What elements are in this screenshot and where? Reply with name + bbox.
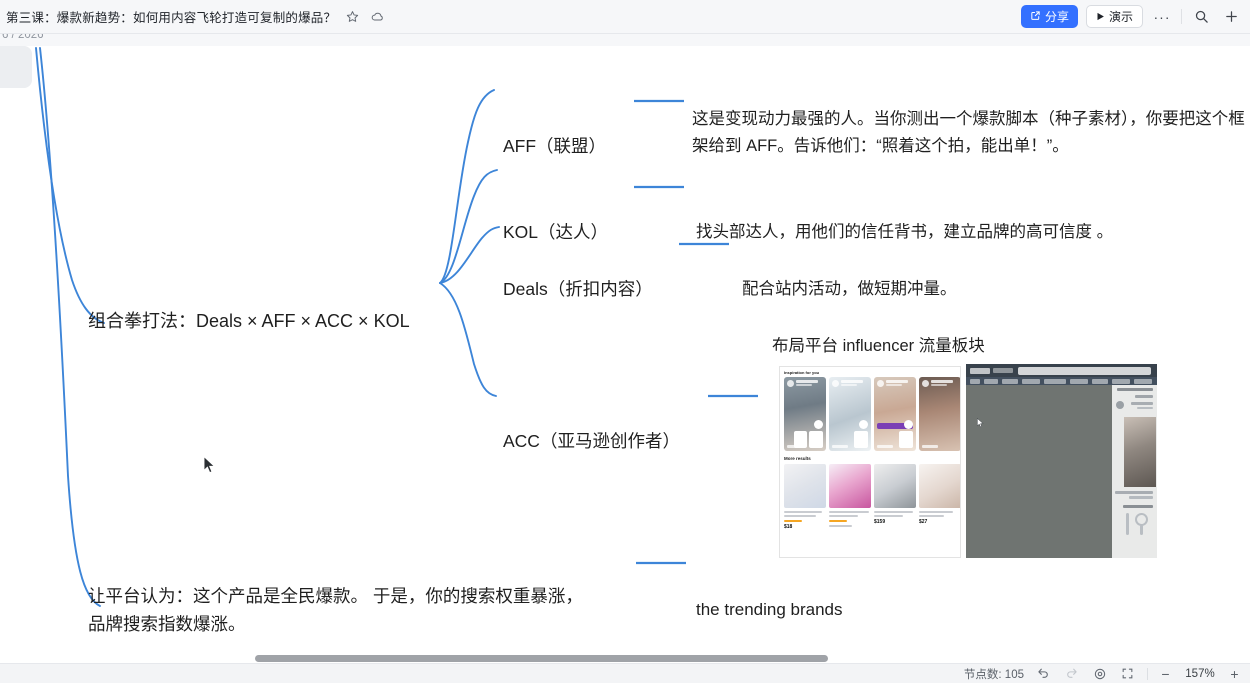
branch-label-kol[interactable]: KOL（达人） bbox=[503, 219, 608, 246]
product-utensil-icon bbox=[1126, 513, 1129, 535]
shot-a-video-row bbox=[780, 377, 960, 451]
avatar bbox=[787, 380, 794, 387]
avatar bbox=[922, 380, 929, 387]
document-title[interactable]: 第三课：爆款新趋势：如何用内容飞轮打造可复制的爆品？ bbox=[6, 7, 336, 26]
delivery-location bbox=[993, 368, 1013, 373]
video-card bbox=[874, 377, 916, 451]
action-bar bbox=[832, 445, 848, 448]
product-image bbox=[874, 464, 916, 508]
present-button-label: 演示 bbox=[1109, 8, 1133, 25]
product-price: $159 bbox=[874, 519, 916, 525]
zoom-out-button[interactable]: − bbox=[1159, 667, 1172, 681]
avatar bbox=[877, 380, 884, 387]
play-triangle-icon bbox=[1096, 10, 1105, 24]
subtitle-bar bbox=[931, 384, 947, 386]
plus-icon[interactable] bbox=[1220, 6, 1242, 28]
zoom-in-button[interactable]: + bbox=[1228, 667, 1241, 681]
nav-tab bbox=[1070, 379, 1088, 384]
post-caption-line bbox=[1129, 496, 1153, 499]
product-card bbox=[829, 464, 871, 531]
title-bar: 第三课：爆款新趋势：如何用内容飞轮打造可复制的爆品？ bbox=[0, 0, 1250, 34]
creator-post-image bbox=[1124, 417, 1156, 487]
product-price: $27 bbox=[919, 519, 961, 525]
branch-label-aff[interactable]: AFF（联盟） bbox=[503, 133, 606, 160]
product-price: $18 bbox=[784, 524, 826, 530]
nav-tab bbox=[1092, 379, 1108, 384]
nav-tab bbox=[970, 379, 980, 384]
action-bar bbox=[922, 445, 938, 448]
post-caption-line bbox=[1115, 491, 1153, 494]
product-title-line bbox=[784, 515, 816, 517]
product-title-line bbox=[829, 511, 869, 513]
branch-detail-kol[interactable]: 找头部达人，用他们的信任背书，建立品牌的高可信度 。 bbox=[696, 220, 1113, 246]
node-count-label: 节点数: 105 bbox=[964, 666, 1024, 682]
video-card bbox=[784, 377, 826, 451]
product-title-line bbox=[919, 515, 944, 517]
video-card bbox=[919, 377, 961, 451]
nav-tab bbox=[1112, 379, 1130, 384]
star-outline-icon[interactable] bbox=[343, 8, 361, 26]
statusbar-divider bbox=[1147, 668, 1148, 680]
share-button-label: 分享 bbox=[1045, 8, 1069, 25]
expand-corners-icon[interactable] bbox=[1119, 665, 1136, 682]
redo-arrow-icon[interactable] bbox=[1063, 665, 1080, 682]
product-image bbox=[784, 464, 826, 508]
product-card: $159 bbox=[874, 464, 916, 531]
nav-tab bbox=[1002, 379, 1018, 384]
amazon-creator-page-screenshot[interactable] bbox=[966, 364, 1157, 558]
left-floating-panel[interactable] bbox=[0, 46, 32, 88]
amazon-logo bbox=[970, 368, 990, 374]
bottom-node[interactable]: 让平台认为：这个产品是全民爆款。 于是，你的搜索权重暴涨， 品牌搜索指数爆涨。 bbox=[88, 582, 583, 639]
app-window: 第三课：爆款新趋势：如何用内容飞轮打造可复制的爆品？ bbox=[0, 0, 1250, 683]
badge bbox=[859, 420, 868, 429]
zoom-level-label[interactable]: 157% bbox=[1183, 668, 1217, 680]
product-image bbox=[919, 464, 961, 508]
rating-stars bbox=[784, 520, 802, 523]
product-thumb bbox=[809, 431, 823, 448]
badge bbox=[814, 420, 823, 429]
video-card bbox=[829, 377, 871, 451]
site-search-input bbox=[1018, 367, 1151, 375]
product-image bbox=[829, 464, 871, 508]
embedded-cursor-icon bbox=[976, 418, 987, 428]
rating-stars bbox=[829, 520, 847, 523]
branch-detail-aff[interactable]: 这是变现动力最强的人。当你测出一个爆款脚本（种子素材），你要把这个框架给到 AF… bbox=[692, 106, 1248, 159]
shot-a-product-grid: $18 $159 bbox=[780, 464, 960, 531]
panel-section-heading bbox=[1123, 505, 1153, 508]
fit-to-screen-icon[interactable] bbox=[1091, 665, 1108, 682]
title-bar-left: 第三课：爆款新趋势：如何用内容飞轮打造可复制的爆品？ bbox=[0, 7, 386, 26]
search-icon[interactable] bbox=[1190, 6, 1212, 28]
product-handle-icon bbox=[1140, 525, 1143, 535]
product-thumb bbox=[899, 431, 913, 448]
creator-avatar bbox=[1116, 401, 1124, 409]
amazon-inspire-feed-screenshot[interactable]: Inspiration for you bbox=[779, 366, 961, 558]
nav-tab bbox=[1044, 379, 1066, 384]
branch-detail-deals[interactable]: 配合站内活动，做短期冲量。 bbox=[742, 277, 957, 303]
undo-arrow-icon[interactable] bbox=[1035, 665, 1052, 682]
mouse-cursor-icon bbox=[203, 456, 216, 474]
panel-subheading bbox=[1135, 395, 1153, 398]
username-bar bbox=[796, 380, 818, 383]
shot-a-heading: Inspiration for you bbox=[780, 367, 960, 377]
username-bar bbox=[886, 380, 908, 383]
branch-label-deals[interactable]: Deals（折扣内容） bbox=[503, 276, 653, 303]
product-card: $18 bbox=[784, 464, 826, 531]
toolbar-divider bbox=[1181, 9, 1182, 24]
mindmap-canvas[interactable]: 组合拳打法：Deals × AFF × ACC × KOL AFF（联盟） KO… bbox=[0, 46, 1250, 653]
cloud-sync-icon[interactable] bbox=[368, 8, 386, 26]
product-meta-line bbox=[829, 525, 852, 527]
nav-tab bbox=[1134, 379, 1152, 384]
product-thumb bbox=[794, 431, 807, 448]
mindmap-root-node[interactable]: 组合拳打法：Deals × AFF × ACC × KOL bbox=[88, 308, 410, 336]
nav-tab bbox=[1022, 379, 1040, 384]
branch-label-acc[interactable]: ACC（亚马逊创作者） bbox=[503, 428, 680, 455]
product-card: $27 bbox=[919, 464, 961, 531]
image-group-label[interactable]: 布局平台 influencer 流量板块 bbox=[772, 334, 985, 360]
status-bar: 节点数: 105 − 157% + bbox=[0, 663, 1250, 683]
nav-tab bbox=[984, 379, 998, 384]
title-bar-actions: 分享 演示 ··· bbox=[1021, 5, 1250, 28]
subtitle-bar bbox=[886, 384, 902, 386]
share-button[interactable]: 分享 bbox=[1021, 5, 1078, 28]
breadcrumb: 6 / 2026 bbox=[2, 34, 44, 41]
creator-name bbox=[1131, 402, 1153, 405]
product-title-line bbox=[784, 511, 822, 513]
breadcrumb-strip: 6 / 2026 bbox=[0, 34, 1250, 46]
product-title-line bbox=[919, 511, 953, 513]
shot-a-heading-2: More results bbox=[780, 451, 960, 464]
product-title-line bbox=[829, 515, 858, 517]
bottom-node-detail[interactable]: the trending brands bbox=[696, 597, 843, 623]
product-title-line bbox=[874, 515, 903, 517]
avatar bbox=[832, 380, 839, 387]
panel-heading bbox=[1117, 388, 1153, 391]
horizontal-scrollbar[interactable] bbox=[255, 655, 828, 662]
username-bar bbox=[931, 380, 953, 383]
share-external-icon bbox=[1030, 10, 1041, 24]
creator-handle bbox=[1137, 407, 1153, 409]
product-thumb bbox=[854, 431, 868, 448]
username-bar bbox=[841, 380, 863, 383]
subtitle-bar bbox=[841, 384, 857, 386]
action-bar bbox=[877, 445, 893, 448]
more-options-button[interactable]: ··· bbox=[1151, 6, 1173, 28]
subtitle-bar bbox=[796, 384, 812, 386]
present-button[interactable]: 演示 bbox=[1086, 5, 1143, 28]
badge bbox=[904, 420, 913, 429]
product-title-line bbox=[874, 511, 913, 513]
